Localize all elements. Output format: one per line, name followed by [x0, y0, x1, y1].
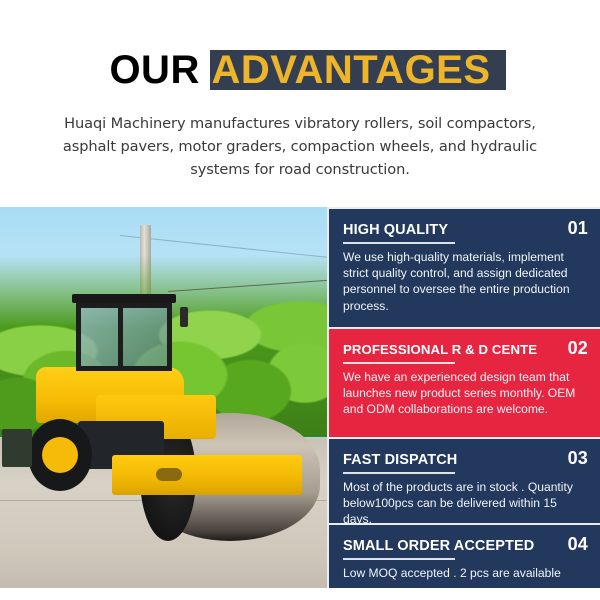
- advantage-card-3-number: 03: [562, 448, 588, 469]
- advantage-card-1-number: 01: [562, 218, 588, 239]
- advantage-card-3-body: Most of the products are in stock . Quan…: [343, 479, 588, 528]
- header-section: OUR ADVANTAGES Huaqi Machinery manufactu…: [0, 0, 600, 206]
- title-word-advantages-text: ADVANTAGES: [211, 48, 490, 92]
- cab-post: [118, 303, 123, 371]
- page-title: OUR ADVANTAGES: [0, 46, 600, 94]
- front-blade: [2, 429, 32, 467]
- content-section: HIGH QUALITY 01 We use high-quality mate…: [0, 207, 600, 588]
- advantages-banner: OUR ADVANTAGES Huaqi Machinery manufactu…: [0, 0, 600, 600]
- road-roller-photo: [0, 207, 327, 588]
- drum-frame-slot: [156, 468, 182, 481]
- advantage-card-3-title: FAST DISPATCH: [343, 452, 457, 468]
- operator-cab: [76, 303, 172, 371]
- advantage-card-2-title: PROFESSIONAL R & D CENTE: [343, 342, 537, 357]
- advantage-card-4[interactable]: SMALL ORDER ACCEPTED 04 Low MOQ accepted…: [327, 523, 600, 588]
- advantage-card-1-body: We use high-quality materials, implement…: [343, 249, 588, 315]
- advantage-card-4-body: Low MOQ accepted . 2 pcs are available: [343, 565, 588, 581]
- side-mirror: [180, 307, 188, 327]
- advantage-card-2[interactable]: PROFESSIONAL R & D CENTE 02 We have an e…: [327, 327, 600, 437]
- title-word-our: OUR: [109, 48, 199, 92]
- advantage-card-list: HIGH QUALITY 01 We use high-quality mate…: [327, 207, 600, 588]
- title-text: OUR ADVANTAGES: [0, 46, 600, 94]
- advantage-card-1[interactable]: HIGH QUALITY 01 We use high-quality mate…: [327, 207, 600, 327]
- rear-wheel: [28, 419, 92, 491]
- cab-roof: [72, 294, 176, 303]
- advantage-card-2-body: We have an experienced design team that …: [343, 369, 588, 418]
- advantage-card-1-rule: [343, 242, 455, 244]
- advantage-card-3-rule: [343, 472, 455, 474]
- advantage-card-4-rule: [343, 558, 455, 560]
- title-word-advantages: ADVANTAGES: [200, 48, 491, 92]
- advantage-card-4-number: 04: [562, 534, 588, 555]
- advantage-card-3[interactable]: FAST DISPATCH 03 Most of the products ar…: [327, 437, 600, 523]
- advantage-card-2-rule: [343, 362, 455, 364]
- advantage-card-2-number: 02: [562, 338, 588, 359]
- intro-paragraph: Huaqi Machinery manufactures vibratory r…: [62, 112, 538, 181]
- advantage-card-4-title: SMALL ORDER ACCEPTED: [343, 538, 534, 554]
- advantage-card-3-header: FAST DISPATCH 03: [343, 448, 588, 469]
- advantage-card-2-header: PROFESSIONAL R & D CENTE 02: [343, 338, 588, 359]
- advantage-card-1-title: HIGH QUALITY: [343, 222, 448, 238]
- drum-frame: [112, 455, 302, 495]
- advantage-card-1-header: HIGH QUALITY 01: [343, 218, 588, 239]
- advantage-card-4-header: SMALL ORDER ACCEPTED 04: [343, 534, 588, 555]
